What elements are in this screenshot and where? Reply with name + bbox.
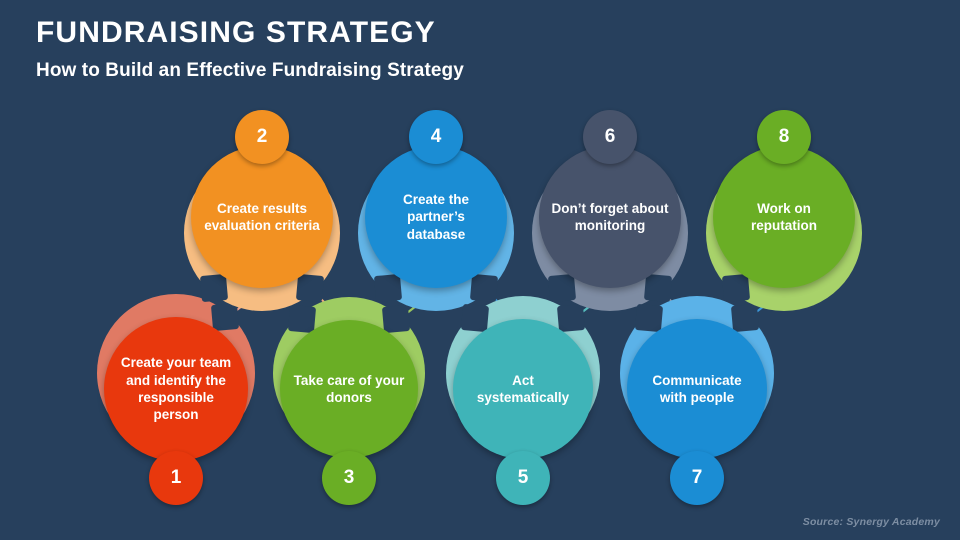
step-label: Act systematically bbox=[453, 372, 593, 407]
step-label: Create your team and identify the respon… bbox=[104, 354, 248, 423]
step-number: 3 bbox=[344, 467, 355, 489]
step-number-badge[interactable]: 1 bbox=[149, 451, 203, 505]
step-notch bbox=[211, 303, 239, 331]
step-notch bbox=[548, 274, 576, 302]
step-number-badge[interactable]: 4 bbox=[409, 110, 463, 164]
step-circle[interactable]: Communicate with people bbox=[627, 319, 767, 459]
step-notch bbox=[461, 304, 489, 332]
step-notch bbox=[556, 304, 584, 332]
step-notch bbox=[635, 304, 663, 332]
step-notch bbox=[382, 305, 410, 333]
step-number-badge[interactable]: 5 bbox=[496, 451, 550, 505]
step-number-badge[interactable]: 6 bbox=[583, 110, 637, 164]
step-circle[interactable]: Create your team and identify the respon… bbox=[104, 317, 248, 461]
step-notch bbox=[470, 274, 498, 302]
step-circle[interactable]: Take care of your donors bbox=[280, 320, 418, 458]
step-notch bbox=[288, 305, 316, 333]
step-label: Create results evaluation criteria bbox=[191, 200, 333, 235]
step-number-badge[interactable]: 3 bbox=[322, 451, 376, 505]
step-label: Take care of your donors bbox=[280, 372, 418, 407]
step-label: Create the partner’s database bbox=[365, 191, 507, 243]
step-notch bbox=[200, 274, 228, 302]
step-number-badge[interactable]: 8 bbox=[757, 110, 811, 164]
step-number: 8 bbox=[779, 126, 790, 148]
step-number: 4 bbox=[431, 126, 442, 148]
slide-canvas: FUNDRAISING STRATEGY How to Build an Eff… bbox=[0, 0, 960, 540]
step-circle[interactable]: Act systematically bbox=[453, 319, 593, 459]
step-notch bbox=[644, 274, 672, 302]
source-attribution: Source: Synergy Academy bbox=[803, 516, 940, 528]
step-number-badge[interactable]: 7 bbox=[670, 451, 724, 505]
step-label: Work on reputation bbox=[713, 200, 855, 235]
step-number-badge[interactable]: 2 bbox=[235, 110, 289, 164]
step-notch bbox=[374, 274, 402, 302]
step-notch bbox=[722, 274, 750, 302]
step-notch bbox=[296, 274, 324, 302]
step-circle[interactable]: Work on reputation bbox=[713, 146, 855, 288]
step-circle[interactable]: Don’t forget about monitoring bbox=[539, 146, 681, 288]
step-label: Communicate with people bbox=[627, 372, 767, 407]
step-number: 2 bbox=[257, 126, 268, 148]
step-number: 5 bbox=[518, 467, 529, 489]
step-number: 6 bbox=[605, 126, 616, 148]
step-number: 7 bbox=[692, 467, 703, 489]
step-label: Don’t forget about monitoring bbox=[539, 200, 681, 235]
step-circle[interactable]: Create the partner’s database bbox=[365, 146, 507, 288]
step-number: 1 bbox=[171, 467, 182, 489]
step-circle[interactable]: Create results evaluation criteria bbox=[191, 146, 333, 288]
step-notch bbox=[730, 304, 758, 332]
